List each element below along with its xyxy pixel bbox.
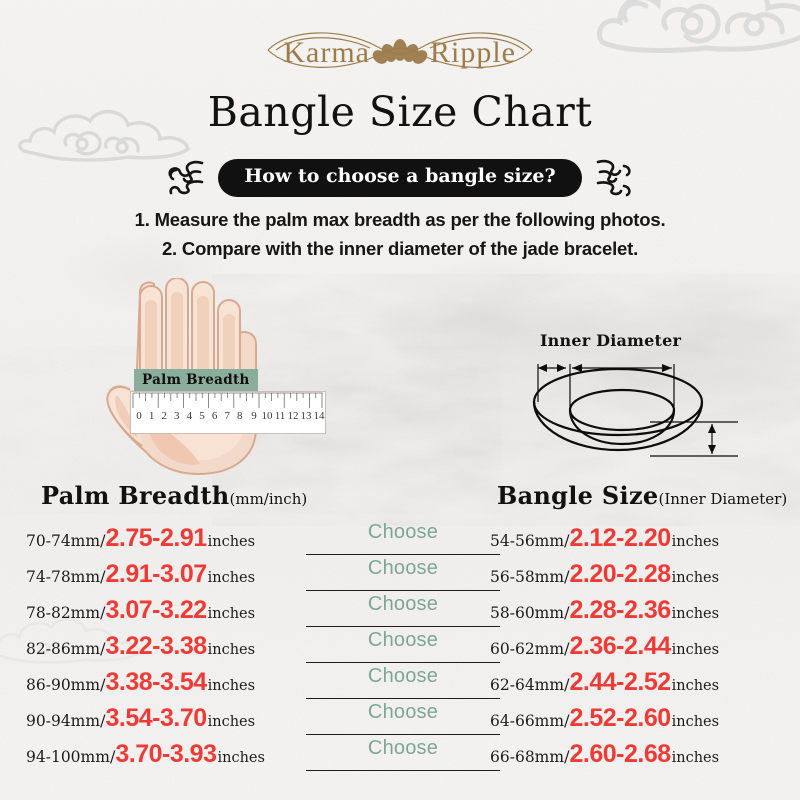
table-row: 54-56mm/2.12-2.20inches — [490, 524, 790, 560]
choose-underline — [306, 590, 500, 591]
bangle-inch: 2.52-2.60 — [569, 704, 670, 733]
bangle-unit: inches — [671, 750, 719, 766]
table-row: 94-100mm/3.70-3.93inches — [26, 740, 326, 776]
bangle-mm: 54-56mm — [490, 532, 564, 550]
brand-name-right: Ripple — [430, 36, 516, 69]
palm-inch: 2.91-3.07 — [105, 560, 206, 589]
choose-label: Choose — [368, 665, 438, 688]
table-row: 90-94mm/3.54-3.70inches — [26, 704, 326, 740]
palm-unit: inches — [207, 570, 255, 586]
ruler-num: 2 — [161, 410, 167, 422]
table-row: 62-64mm/2.44-2.52inches — [490, 668, 790, 704]
palm-inch: 2.75-2.91 — [105, 524, 206, 553]
decorative-swirl-icon — [594, 156, 636, 200]
bangle-inch: 2.44-2.52 — [569, 668, 670, 697]
choose-row[interactable]: Choose — [318, 704, 488, 740]
instruction-line-1: 1. Measure the palm max breadth as per t… — [0, 206, 800, 235]
bangle-mm: 60-62mm — [490, 640, 564, 658]
palm-inch: 3.70-3.93 — [115, 740, 216, 769]
palm-inch: 3.22-3.38 — [105, 632, 206, 661]
choose-label: Choose — [368, 593, 438, 616]
choose-row[interactable]: Choose — [318, 668, 488, 704]
palm-breadth-table: 70-74mm/2.75-2.91inches 74-78mm/2.91-3.0… — [26, 524, 326, 776]
choose-column: Choose Choose Choose Choose Choose Choos… — [318, 524, 488, 776]
palm-inch: 3.54-3.70 — [105, 704, 206, 733]
choose-underline — [306, 770, 500, 771]
brand-logo-svg: Karma Ripple — [250, 20, 550, 80]
decorative-swirl-icon — [164, 158, 206, 198]
ruler-num: 9 — [251, 410, 257, 422]
palm-mm: 74-78mm — [26, 568, 100, 586]
choose-row[interactable]: Choose — [318, 740, 488, 776]
ruler-num: 5 — [199, 410, 205, 422]
instructions-block: 1. Measure the palm max breadth as per t… — [0, 206, 800, 263]
palm-unit: inches — [207, 678, 255, 694]
bangle-mm: 64-66mm — [490, 712, 564, 730]
section-heading-bangle: Bangle Size(Inner Diameter) — [497, 481, 787, 510]
section-heading-bangle-title: Bangle Size — [497, 481, 658, 510]
choose-underline — [306, 662, 500, 663]
table-row: 60-62mm/2.36-2.44inches — [490, 632, 790, 668]
bangle-unit: inches — [671, 714, 719, 730]
ruler-num: 13 — [301, 410, 312, 422]
page-title: Bangle Size Chart — [0, 88, 800, 136]
ruler-num: 6 — [212, 410, 218, 422]
bangle-diagram — [500, 352, 750, 472]
ruler-ticks — [131, 392, 325, 412]
choose-label: Choose — [368, 737, 438, 760]
bangle-inch: 2.12-2.20 — [569, 524, 670, 553]
palm-inch: 3.38-3.54 — [105, 668, 206, 697]
ruler-num: 12 — [288, 410, 299, 422]
choose-row[interactable]: Choose — [318, 632, 488, 668]
table-row: 56-58mm/2.20-2.28inches — [490, 560, 790, 596]
section-heading-palm-unit: (mm/inch) — [230, 490, 308, 508]
bangle-inch: 2.60-2.68 — [569, 740, 670, 769]
palm-unit: inches — [207, 714, 255, 730]
palm-mm: 94-100mm — [26, 748, 110, 766]
ruler-num: 1 — [149, 410, 155, 422]
size-chart-page: Karma Ripple Bangle Size Chart How to ch… — [0, 0, 800, 800]
choose-label: Choose — [368, 629, 438, 652]
choose-underline — [306, 698, 500, 699]
choose-label: Choose — [368, 521, 438, 544]
palm-mm: 82-86mm — [26, 640, 100, 658]
bangle-mm: 66-68mm — [490, 748, 564, 766]
bangle-unit: inches — [671, 570, 719, 586]
bangle-unit: inches — [671, 606, 719, 622]
ruler-num: 14 — [314, 410, 325, 422]
palm-mm: 78-82mm — [26, 604, 100, 622]
bangle-inch: 2.20-2.28 — [569, 560, 670, 589]
ruler-number-labels: 0 1 2 3 4 5 6 7 8 9 10 11 12 13 14 — [131, 410, 325, 430]
ruler-num: 7 — [224, 410, 230, 422]
section-heading-palm-title: Palm Breadth — [41, 481, 230, 510]
palm-unit: inches — [207, 642, 255, 658]
instruction-line-2: 2. Compare with the inner diameter of th… — [0, 235, 800, 264]
brand-name-left: Karma — [283, 36, 370, 69]
ruler-num: 4 — [187, 410, 193, 422]
palm-mm: 70-74mm — [26, 532, 100, 550]
choose-row[interactable]: Choose — [318, 524, 488, 560]
bangle-mm: 58-60mm — [490, 604, 564, 622]
choose-underline — [306, 626, 500, 627]
ruler-num: 8 — [237, 410, 243, 422]
ruler-num: 11 — [275, 410, 286, 422]
bangle-mm: 62-64mm — [490, 676, 564, 694]
table-row: 66-68mm/2.60-2.68inches — [490, 740, 790, 776]
palm-mm: 86-90mm — [26, 676, 100, 694]
choose-underline — [306, 734, 500, 735]
palm-breadth-callout: Palm Breadth — [134, 369, 258, 392]
choose-underline — [306, 554, 500, 555]
palm-unit: inches — [207, 606, 255, 622]
ruler-num: 3 — [174, 410, 180, 422]
ruler-num: 10 — [262, 410, 273, 422]
ruler-num: 0 — [136, 410, 142, 422]
bangle-mm: 56-58mm — [490, 568, 564, 586]
table-row: 82-86mm/3.22-3.38inches — [26, 632, 326, 668]
choose-label: Choose — [368, 557, 438, 580]
lotus-flower-icon — [370, 39, 430, 67]
bangle-unit: inches — [671, 534, 719, 550]
section-heading-palm: Palm Breadth(mm/inch) — [41, 481, 307, 510]
section-heading-bangle-unit: (Inner Diameter) — [658, 490, 787, 508]
table-row: 86-90mm/3.38-3.54inches — [26, 668, 326, 704]
table-row: 74-78mm/2.91-3.07inches — [26, 560, 326, 596]
how-to-choose-banner: How to choose a bangle size? — [218, 159, 581, 197]
table-row: 70-74mm/2.75-2.91inches — [26, 524, 326, 560]
inner-diameter-label: Inner Diameter — [540, 331, 681, 350]
table-row: 58-60mm/2.28-2.36inches — [490, 596, 790, 632]
brand-logo: Karma Ripple — [0, 20, 800, 82]
bangle-size-table: 54-56mm/2.12-2.20inches 56-58mm/2.20-2.2… — [490, 524, 790, 776]
palm-unit: inches — [216, 750, 264, 766]
bangle-unit: inches — [671, 678, 719, 694]
bangle-inch: 2.28-2.36 — [569, 596, 670, 625]
bangle-inch: 2.36-2.44 — [569, 632, 670, 661]
table-row: 64-66mm/2.52-2.60inches — [490, 704, 790, 740]
choose-row[interactable]: Choose — [318, 596, 488, 632]
choose-label: Choose — [368, 701, 438, 724]
bangle-unit: inches — [671, 642, 719, 658]
subtitle-row: How to choose a bangle size? — [0, 157, 800, 199]
palm-inch: 3.07-3.22 — [105, 596, 206, 625]
choose-row[interactable]: Choose — [318, 560, 488, 596]
palm-unit: inches — [207, 534, 255, 550]
ruler-graphic: 0 1 2 3 4 5 6 7 8 9 10 11 12 13 14 — [130, 391, 326, 434]
palm-mm: 90-94mm — [26, 712, 100, 730]
table-row: 78-82mm/3.07-3.22inches — [26, 596, 326, 632]
